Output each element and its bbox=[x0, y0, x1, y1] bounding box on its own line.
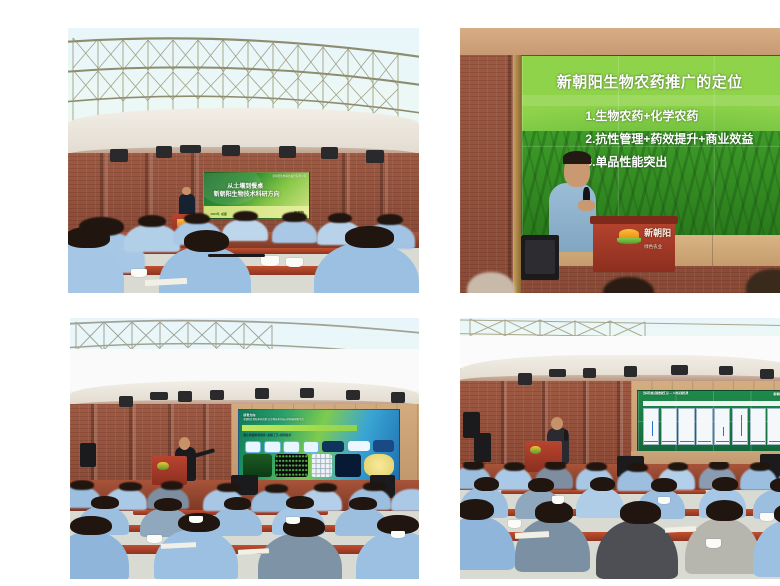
slide-bullet-3: 3.单品性能突出 bbox=[585, 156, 667, 168]
presenter-head bbox=[179, 437, 191, 450]
audience bbox=[68, 195, 419, 293]
slide-panel-molecule bbox=[335, 454, 361, 477]
chart-slide-title: 田间药效试验数据汇总 — 八地试验结果 bbox=[643, 393, 689, 396]
slide-corner-note: 新朝阳生物科技股份有限公司 bbox=[273, 176, 307, 179]
podium-brand: 新朝阳 bbox=[644, 229, 671, 238]
slide-section: 微生物菌种资源库+发酵工艺+制剂技术 bbox=[243, 434, 291, 437]
chart-panel bbox=[714, 408, 730, 446]
slide-panel-structure bbox=[322, 441, 344, 452]
photo-top-left[interactable]: 从土壤到餐桌 新朝阳生物技术科研方向 新朝阳生物科技股份有限公司 2023年· … bbox=[68, 28, 419, 293]
chart-axis bbox=[680, 441, 694, 442]
podium-logo bbox=[530, 446, 541, 454]
chart-row bbox=[643, 408, 780, 446]
slide-panel-plate-array bbox=[275, 454, 307, 477]
chart-panel bbox=[696, 408, 712, 446]
slide-subheader: 新朝阳生物技术研究院 以生物技术为核心的科研创新平台 bbox=[243, 419, 303, 421]
slide-title-line1: 从土壤到餐桌 bbox=[227, 184, 263, 190]
chart-axis bbox=[769, 441, 780, 442]
audience bbox=[70, 480, 419, 579]
chart-axis bbox=[733, 441, 747, 442]
audience bbox=[460, 462, 780, 579]
chart-panel bbox=[661, 408, 677, 446]
microphone bbox=[564, 430, 568, 440]
chart-axis bbox=[662, 441, 676, 442]
photo-top-right[interactable]: 新朝阳生物农药推广的定位 1.生物农药+化学农药 2.抗性管理+药效提升+商业效… bbox=[460, 28, 780, 293]
chart-axis bbox=[751, 441, 765, 442]
slide-panel-gel bbox=[348, 441, 370, 450]
podium-logo bbox=[617, 228, 641, 247]
slide-panel-chip bbox=[373, 440, 394, 452]
slide-panel-microscopy bbox=[243, 454, 272, 477]
photo-bottom-left[interactable]: 研发方向 新朝阳生物技术研究院 以生物技术为核心的科研创新平台 微生物菌种资源库… bbox=[70, 318, 419, 579]
slide-header: 研发方向 bbox=[243, 414, 255, 417]
slide-card bbox=[245, 441, 261, 452]
led-video-wall: 田间药效试验数据汇总 — 八地试验结果 新朝阳 bbox=[637, 390, 780, 455]
chart-axis bbox=[698, 441, 712, 442]
stage-speaker-box bbox=[80, 443, 96, 466]
slide-title: 新朝阳生物农药推广的定位 bbox=[557, 75, 743, 90]
chart-panel bbox=[750, 408, 766, 446]
photo-grid: 从土壤到餐桌 新朝阳生物技术科研方向 新朝阳生物科技股份有限公司 2023年· … bbox=[0, 0, 780, 586]
slide-card bbox=[264, 441, 280, 452]
stage-speaker-box bbox=[474, 433, 491, 462]
slide-panel-grid bbox=[311, 454, 332, 477]
slide-panel-pathway bbox=[364, 454, 395, 477]
podium-sub-brand: 绿色农业 bbox=[644, 245, 662, 250]
chart-panel bbox=[732, 408, 748, 446]
photo-bottom-right[interactable]: 田间药效试验数据汇总 — 八地试验结果 新朝阳 bbox=[460, 318, 780, 579]
slide-card bbox=[303, 441, 319, 452]
slide-bullet-1: 1.生物农药+化学农药 bbox=[585, 110, 698, 122]
chart-axis bbox=[644, 441, 658, 442]
slide-card bbox=[283, 441, 299, 452]
chart-panel bbox=[767, 408, 780, 446]
wide-led-wall: 研发方向 新朝阳生物技术研究院 以生物技术为核心的科研创新平台 微生物菌种资源库… bbox=[238, 409, 401, 481]
chart-axis bbox=[716, 441, 730, 442]
chart-slide-brand: 新朝阳 bbox=[773, 393, 780, 396]
slide-bullet-2: 2.抗性管理+药效提升+商业效益 bbox=[585, 133, 753, 145]
chart-panel bbox=[643, 408, 659, 446]
chart-panel bbox=[678, 408, 694, 446]
